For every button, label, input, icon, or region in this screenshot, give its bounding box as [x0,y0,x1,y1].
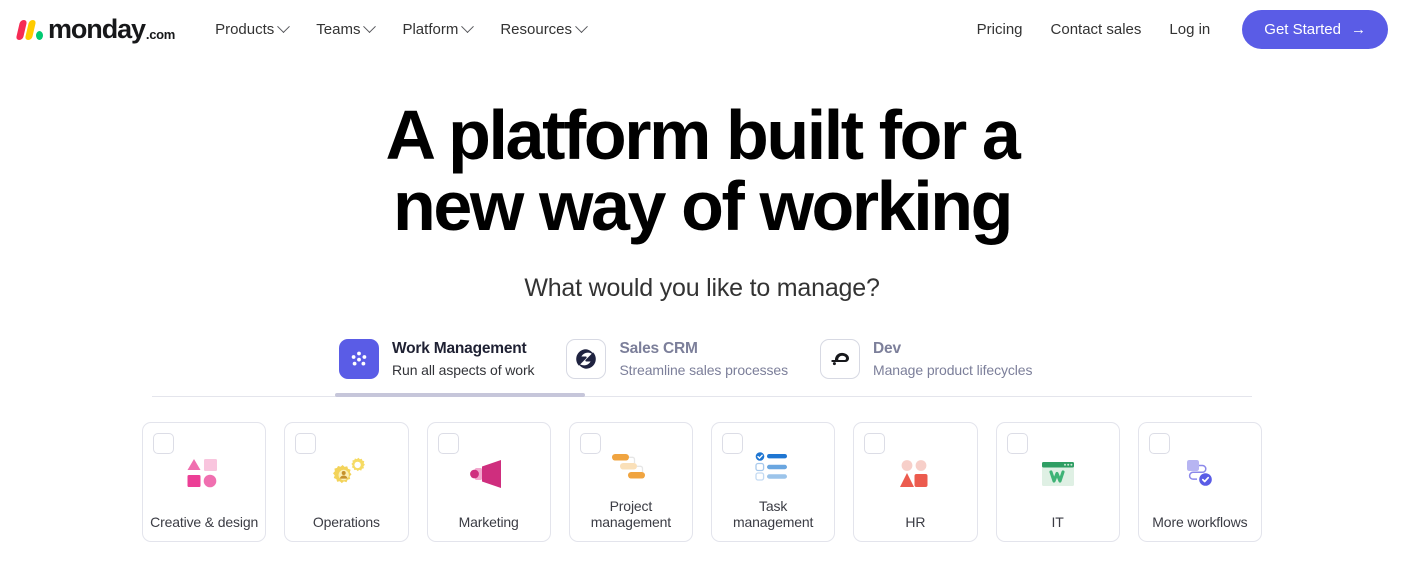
nav-item-resources[interactable]: Resources [486,13,600,46]
nav-item-products[interactable]: Products [201,13,302,46]
monday-logo[interactable]: monday .com [18,16,175,43]
work-management-dots-icon [339,339,379,379]
get-started-label: Get Started [1264,21,1341,38]
nav-link-contact-sales[interactable]: Contact sales [1037,13,1156,46]
tab-sales-crm-desc: Streamline sales processes [619,361,788,379]
logo-domain-suffix: .com [146,27,175,42]
card-checkbox[interactable] [1007,433,1028,454]
dev-logo-icon [820,339,860,379]
card-operations[interactable]: Operations [284,422,408,542]
tab-work-management[interactable]: Work Management Run all aspects of work [325,333,552,397]
tab-sales-crm-title: Sales CRM [619,340,697,357]
workflow-card-grid: Creative & design Operations Marketing [142,422,1262,542]
nav-link-login[interactable]: Log in [1155,13,1224,46]
tab-dev-title: Dev [873,340,901,357]
chevron-down-icon [277,20,290,33]
secondary-nav-menu: Pricing Contact sales Log in Get Started… [963,10,1388,49]
nav-item-platform-label: Platform [402,21,458,38]
nav-item-teams-label: Teams [316,21,360,38]
page-title-line-1: A platform built for a [386,96,1019,174]
logo-mark-icon [18,20,43,40]
tab-work-management-text: Work Management Run all aspects of work [392,339,534,379]
chevron-down-icon [461,20,474,33]
top-navigation-bar: monday .com Products Teams Platform Reso… [0,0,1404,58]
card-more-workflows-label: More workflows [1146,514,1253,530]
card-task-management-label: Task management [712,498,834,530]
card-checkbox[interactable] [438,433,459,454]
sales-crm-swirl-icon [566,339,606,379]
nav-item-resources-label: Resources [500,21,572,38]
card-more-workflows[interactable]: More workflows [1138,422,1262,542]
get-started-button[interactable]: Get Started → [1242,10,1388,49]
chevron-down-icon [364,20,377,33]
card-checkbox[interactable] [153,433,174,454]
card-task-management[interactable]: Task management [711,422,835,542]
card-checkbox[interactable] [722,433,743,454]
page-title-line-2: new way of working [393,167,1011,245]
nav-item-platform[interactable]: Platform [388,13,486,46]
card-project-management[interactable]: Project management [569,422,693,542]
hero-subtitle: What would you like to manage? [0,274,1404,303]
tab-dev-desc: Manage product lifecycles [873,361,1032,379]
card-marketing[interactable]: Marketing [427,422,551,542]
card-project-management-label: Project management [570,498,692,530]
card-it-label: IT [1046,514,1070,530]
tab-sales-crm-text: Sales CRM Streamline sales processes [619,339,788,379]
tab-dev-text: Dev Manage product lifecycles [873,339,1032,379]
tabs-active-indicator [335,393,585,397]
nav-item-products-label: Products [215,21,274,38]
card-marketing-label: Marketing [453,514,525,530]
nav-item-teams[interactable]: Teams [302,13,388,46]
page-title: A platform built for a new way of workin… [272,100,1132,242]
tab-sales-crm[interactable]: Sales CRM Streamline sales processes [552,333,806,397]
card-hr-label: HR [899,514,931,530]
tab-dev[interactable]: Dev Manage product lifecycles [806,333,1050,397]
card-creative-design[interactable]: Creative & design [142,422,266,542]
chevron-down-icon [575,20,588,33]
card-checkbox[interactable] [580,433,601,454]
logo-wordmark: monday [48,16,145,43]
card-checkbox[interactable] [295,433,316,454]
card-it[interactable]: IT [996,422,1120,542]
tabs-divider [152,396,1252,397]
card-operations-label: Operations [307,514,386,530]
card-checkbox[interactable] [1149,433,1170,454]
primary-nav-menu: Products Teams Platform Resources [201,13,600,46]
card-hr[interactable]: HR [853,422,977,542]
nav-link-pricing[interactable]: Pricing [963,13,1037,46]
tab-work-management-desc: Run all aspects of work [392,361,534,379]
tab-work-management-title: Work Management [392,340,527,357]
product-tabs: Work Management Run all aspects of work … [142,333,1262,397]
arrow-right-icon: → [1351,22,1366,37]
card-checkbox[interactable] [864,433,885,454]
hero-section: A platform built for a new way of workin… [0,58,1404,303]
card-creative-design-label: Creative & design [144,514,264,530]
